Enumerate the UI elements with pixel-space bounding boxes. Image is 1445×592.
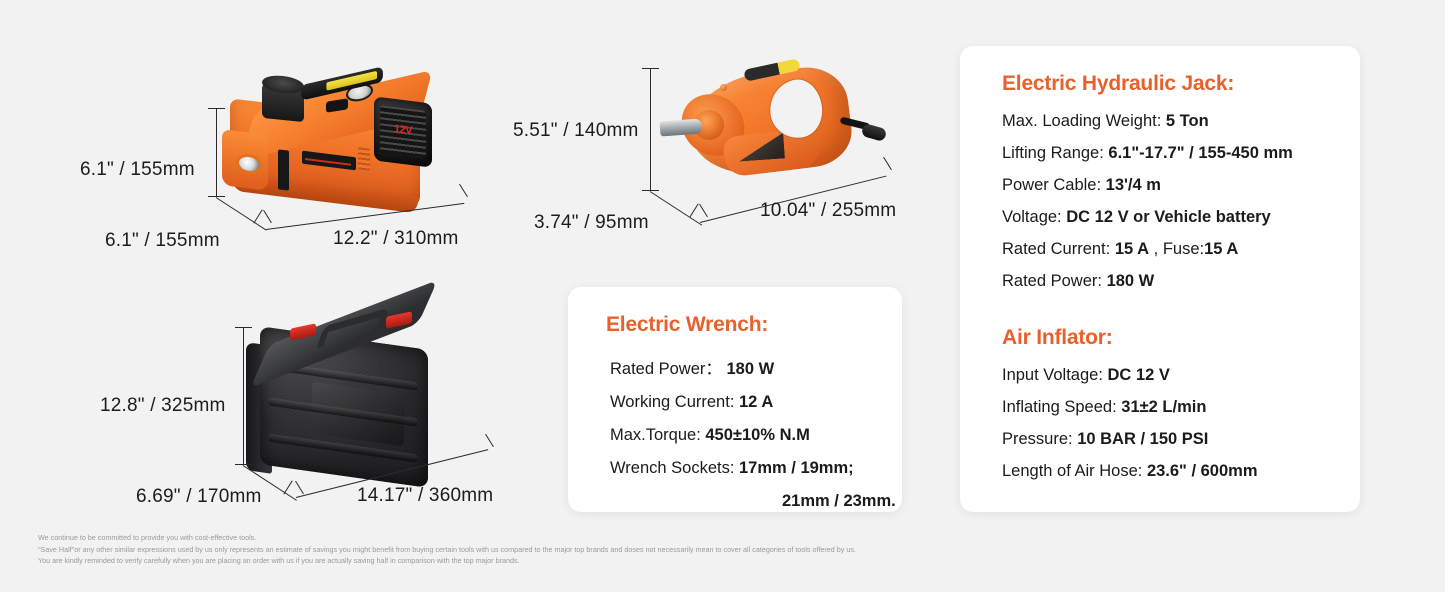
footer-disclaimer: We continue to be committed to provide y… (38, 532, 1138, 567)
spec-value-fuse: 15 A (1204, 240, 1238, 258)
jack-spec-title: Electric Hydraulic Jack: (1002, 72, 1293, 96)
spec-value: 180 W (1107, 272, 1155, 290)
spec-value: 23.6" / 600mm (1147, 462, 1258, 480)
case-height-tick-top (235, 327, 252, 328)
jack-spec-card: Electric Hydraulic Jack: Max. Loading We… (960, 46, 1360, 512)
spec-value: 13'/4 m (1106, 176, 1161, 194)
spec-row-input-voltage: Input Voltage: DC 12 V (1002, 366, 1258, 385)
product-spec-sheet: 12V 6.1" / 155mm 6.1" / 155mm 12.2" / 31… (0, 0, 1445, 592)
spec-row-working-current: Working Current: 12 A (606, 393, 896, 412)
spec-label: Input Voltage: (1002, 366, 1108, 384)
spec-row-rated-current: Rated Current: 15 A , Fuse:15 A (1002, 240, 1293, 259)
jack-depth-label: 6.1" / 155mm (105, 230, 220, 252)
spec-value: 15 A (1115, 240, 1149, 258)
spec-row-max-loading-weight: Max. Loading Weight: 5 Ton (1002, 112, 1293, 131)
spec-value: 5 Ton (1166, 112, 1209, 130)
spec-label: Rated Power: (1002, 272, 1107, 290)
wrench-depth-label: 3.74" / 95mm (534, 212, 649, 234)
air-compressor-housing: 12V (374, 96, 432, 167)
case-height-label: 12.8" / 325mm (100, 395, 226, 417)
spec-row-rated-power: Rated Power: 180 W (1002, 272, 1293, 291)
spec-label: Rated Current: (1002, 240, 1115, 258)
spec-label: Working Current: (610, 393, 739, 411)
jack-length-label: 12.2" / 310mm (333, 228, 459, 250)
jack-height-line (216, 108, 217, 197)
wrench-spec-list: Rated Power： 180 W Working Current: 12 A… (606, 355, 896, 511)
footer-line-2: "Save Half"or any other similar expressi… (38, 544, 1138, 556)
spec-row-wrench-sockets: Wrench Sockets: 17mm / 19mm; (606, 459, 896, 478)
spec-label: Max. Loading Weight: (1002, 112, 1166, 130)
spec-value: 450±10% N.M (705, 426, 809, 444)
spec-label: Pressure: (1002, 430, 1077, 448)
spec-row-voltage: Voltage: DC 12 V or Vehicle battery (1002, 208, 1293, 227)
spec-row-pressure: Pressure: 10 BAR / 150 PSI (1002, 430, 1258, 449)
footer-line-3: You are kindly reminded to verify carefu… (38, 555, 1138, 567)
spec-label: Power Cable: (1002, 176, 1106, 194)
spec-value: 10 BAR / 150 PSI (1077, 430, 1208, 448)
spec-row-power-cable: Power Cable: 13'/4 m (1002, 176, 1293, 195)
case-depth-label: 6.69" / 170mm (136, 486, 262, 508)
spec-value: DC 12 V (1108, 366, 1170, 384)
hydraulic-cylinder (262, 82, 304, 122)
electric-wrench-image (652, 58, 912, 208)
spec-row-max-torque: Max.Torque: 450±10% N.M (606, 426, 896, 445)
body-vent-slots (358, 147, 370, 170)
side-sticker (278, 149, 289, 190)
spec-label: Inflating Speed: (1002, 398, 1121, 416)
jack-height-tick-top (208, 108, 225, 109)
wrench-height-label: 5.51" / 140mm (513, 120, 639, 142)
spec-label: Rated Power： (610, 360, 726, 378)
spec-label: Wrench Sockets: (610, 459, 739, 477)
tool-case-image (246, 310, 496, 500)
footer-line-1: We continue to be committed to provide y… (38, 532, 1138, 544)
spec-label: Length of Air Hose: (1002, 462, 1147, 480)
jack-height-label: 6.1" / 155mm (80, 159, 195, 181)
spec-row-inflating-speed: Inflating Speed: 31±2 L/min (1002, 398, 1258, 417)
spec-row-lifting-range: Lifting Range: 6.1"-17.7" / 155-450 mm (1002, 144, 1293, 163)
brand-label-stripe (305, 158, 351, 166)
spec-value: 31±2 L/min (1121, 398, 1206, 416)
spec-row-air-hose-length: Length of Air Hose: 23.6" / 600mm (1002, 462, 1258, 481)
wrench-height-tick-top (642, 68, 659, 69)
wrench-spec-card: Electric Wrench: Rated Power： 180 W Work… (568, 287, 902, 512)
air-inflator-title: Air Inflator: (1002, 326, 1258, 350)
spec-value: 12 A (739, 393, 773, 411)
air-inflator-spec-list: Input Voltage: DC 12 V Inflating Speed: … (1002, 366, 1258, 494)
spec-row-wrench-rated-power: Rated Power： 180 W (606, 355, 896, 379)
case-length-label: 14.17" / 360mm (357, 485, 493, 507)
spec-value: 6.1"-17.7" / 155-450 mm (1108, 144, 1292, 162)
wrench-spec-title: Electric Wrench: (606, 313, 896, 337)
wrench-height-line (650, 68, 651, 191)
wrench-square-drive (660, 119, 703, 137)
jack-spec-list: Max. Loading Weight: 5 Ton Lifting Range… (1002, 112, 1293, 304)
electric-hydraulic-jack-image: 12V (218, 58, 468, 228)
cord-plug (861, 123, 888, 142)
spec-value: DC 12 V or Vehicle battery (1066, 208, 1271, 226)
wrench-power-cord (840, 120, 882, 132)
wrench-length-label: 10.04" / 255mm (760, 200, 896, 222)
wrench-spec-block: Electric Wrench: Rated Power： 180 W Work… (606, 313, 896, 511)
air-inflator-spec-block: Air Inflator: Input Voltage: DC 12 V Inf… (1002, 326, 1258, 494)
wrench-screw (720, 84, 727, 91)
spec-value: 180 W (726, 360, 774, 378)
spec-value: 17mm / 19mm; (739, 459, 854, 477)
spec-row-wrench-sockets-continued: 21mm / 23mm. (606, 492, 896, 511)
spec-value: 21mm / 23mm. (782, 492, 896, 510)
jack-spec-block: Electric Hydraulic Jack: Max. Loading We… (1002, 72, 1293, 304)
spec-label: Lifting Range: (1002, 144, 1108, 162)
spec-label-fuse: , Fuse: (1149, 240, 1204, 258)
voltage-badge: 12V (394, 123, 412, 137)
spec-label: Voltage: (1002, 208, 1066, 226)
case-height-line (243, 327, 244, 465)
spec-label: Max.Torque: (610, 426, 705, 444)
